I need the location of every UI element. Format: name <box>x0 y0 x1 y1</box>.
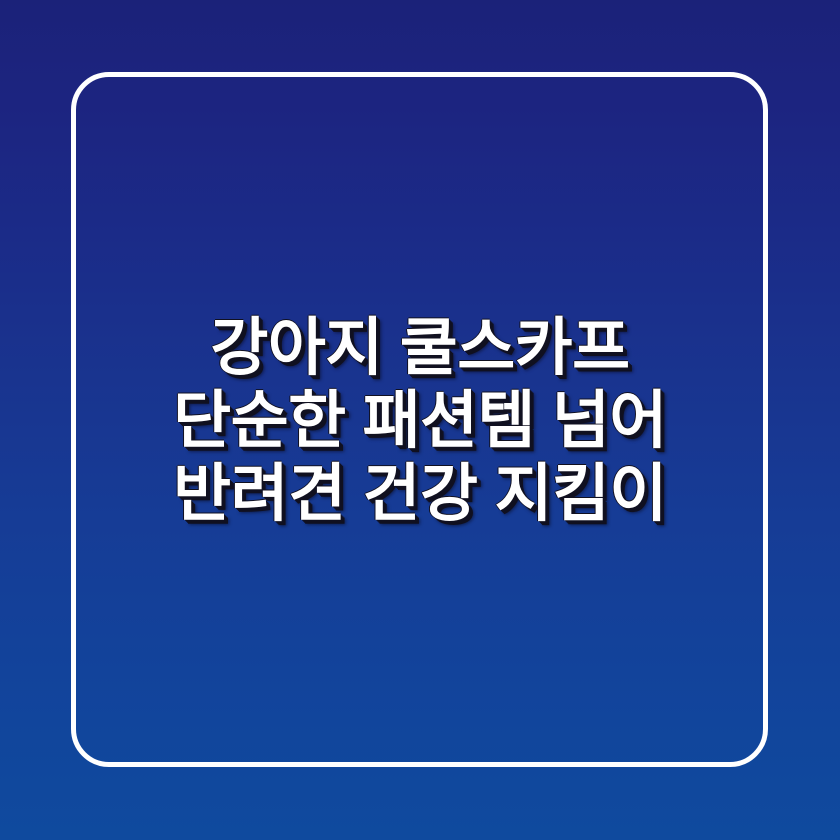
page-title: 강아지 쿨스카프 단순한 패션템 넘어 반려견 건강 지킴이 <box>0 312 840 531</box>
headline-line-3: 반려견 건강 지킴이 <box>90 458 750 531</box>
headline-line-1: 강아지 쿨스카프 <box>90 312 750 385</box>
poster-canvas: 강아지 쿨스카프 단순한 패션템 넘어 반려견 건강 지킴이 <box>0 0 840 840</box>
headline-line-2: 단순한 패션템 넘어 <box>90 385 750 458</box>
